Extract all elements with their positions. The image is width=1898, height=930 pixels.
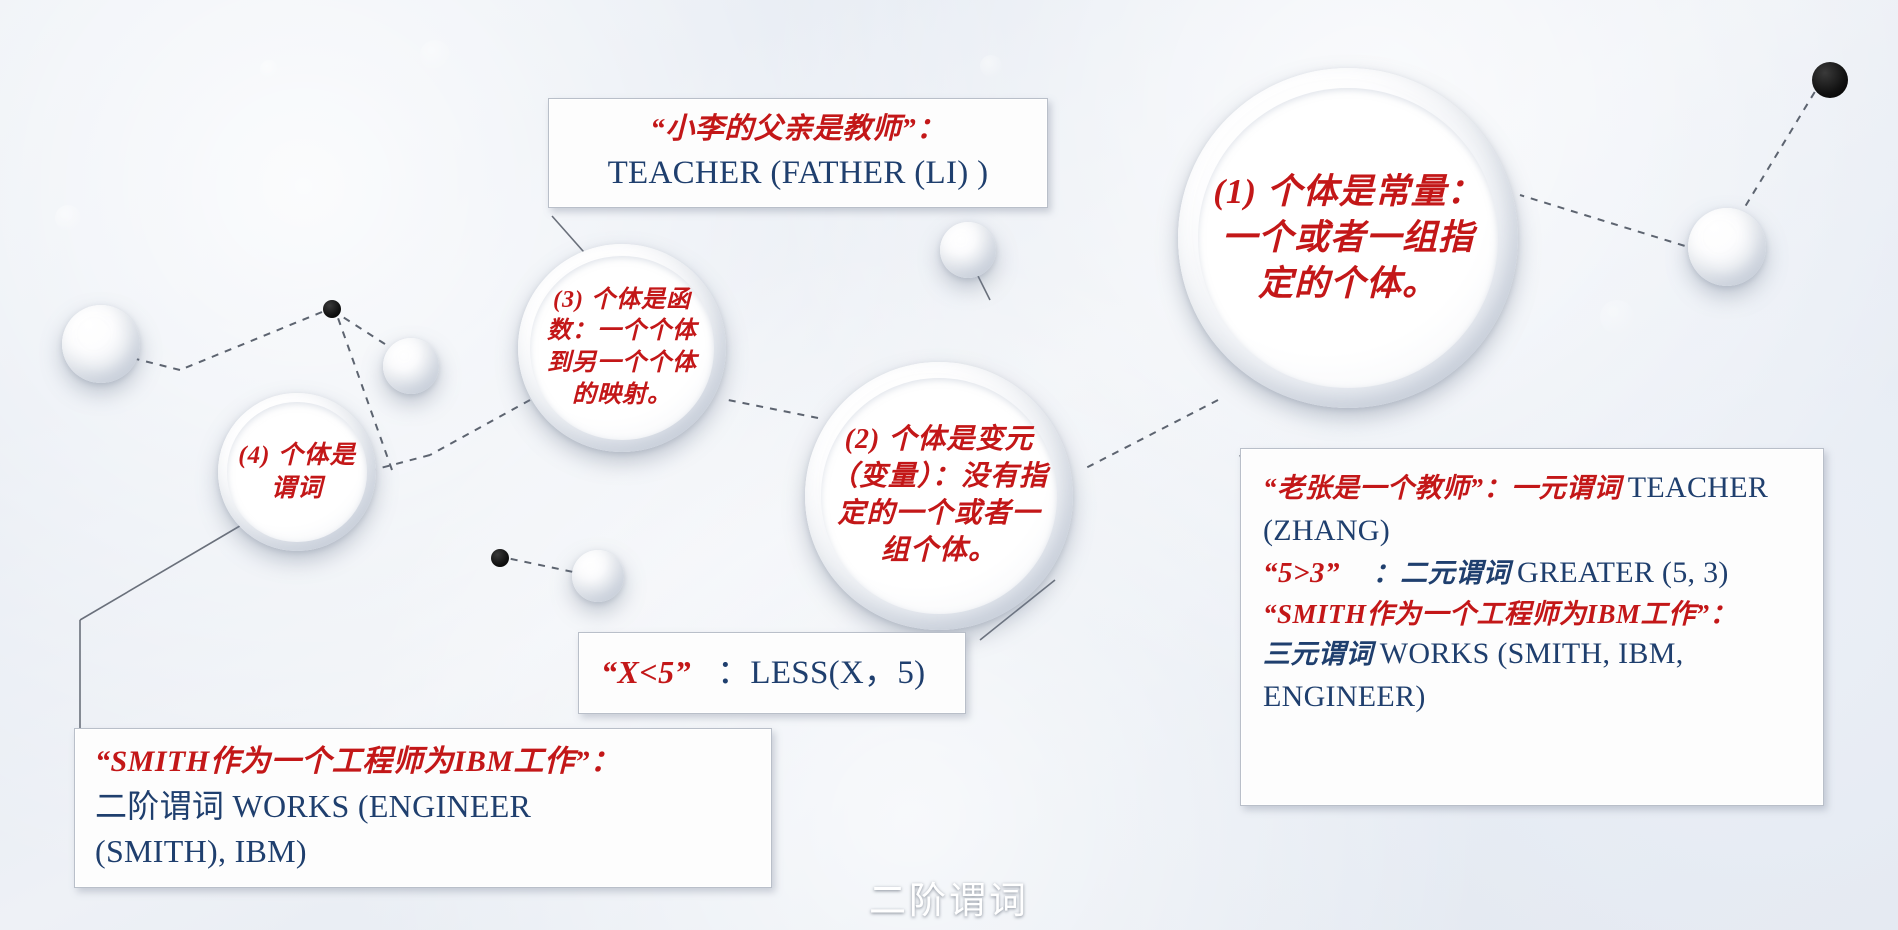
predicate-line-1-zh: “老张是一个教师”：一元谓词 xyxy=(1263,473,1621,503)
callout-less[interactable]: “X<5” ：LESS(X，5) xyxy=(578,632,966,714)
predicate-line-2: (ZHANG) xyxy=(1263,510,1801,553)
slide-caption: 二阶谓词 xyxy=(0,870,1898,924)
predicate-line-6: ENGINEER) xyxy=(1263,676,1801,719)
bokeh-fleck xyxy=(260,60,278,78)
bubble-2[interactable]: (2) 个体是变元（变量）：没有指定的一个或者一组个体。 xyxy=(805,362,1073,630)
bubble-3[interactable]: (3) 个体是函数：一个个体到另一个个体的映射。 xyxy=(518,244,726,452)
callout-works-second-order[interactable]: “SMITH作为一个工程师为IBM工作”： 二阶谓词 WORKS (ENGINE… xyxy=(74,728,772,888)
decor-dot-lower xyxy=(491,549,509,567)
callout-teacher-father-zh: “小李的父亲是教师”： xyxy=(565,109,1031,150)
predicate-line-3: “5>3” ：二元谓词 GREATER (5, 3) xyxy=(1263,552,1801,595)
predicate-line-5: 三元谓词 WORKS (SMITH, IBM, xyxy=(1263,633,1801,676)
callout-less-en: ：LESS(X，5) xyxy=(717,650,925,697)
bubble-2-label: (2) 个体是变元（变量）：没有指定的一个或者一组个体。 xyxy=(829,386,1049,606)
predicate-line-3-zh: “5>3” xyxy=(1263,557,1340,589)
decor-sphere-lower xyxy=(572,550,624,602)
bubble-4-label: (4) 个体是谓词 xyxy=(232,407,362,537)
predicate-line-1: “老张是一个教师”：一元谓词 TEACHER xyxy=(1263,467,1801,510)
callout-teacher-father[interactable]: “小李的父亲是教师”： TEACHER (FATHER (LI) ) xyxy=(548,98,1048,208)
callout-less-zh: “X<5” xyxy=(601,650,691,695)
callout-works-en1: 二阶谓词 WORKS (ENGINEER xyxy=(95,784,751,829)
bokeh-fleck xyxy=(980,55,1002,77)
bubble-3-label: (3) 个体是函数：一个个体到另一个个体的映射。 xyxy=(537,263,708,434)
bubble-4[interactable]: (4) 个体是谓词 xyxy=(218,393,376,551)
callout-works-en2: (SMITH), IBM) xyxy=(95,829,751,874)
decor-sphere-midleft xyxy=(383,338,439,394)
bokeh-fleck xyxy=(55,205,81,231)
predicate-line-5-zh: 三元谓词 xyxy=(1263,639,1373,669)
decor-dot-topright xyxy=(1812,62,1848,98)
decor-dot-left xyxy=(323,300,341,318)
decor-sphere-upper-mid xyxy=(940,222,996,278)
bubble-1[interactable]: (1) 个体是常量：一个或者一组指定的个体。 xyxy=(1178,68,1518,408)
callout-predicate-examples[interactable]: “老张是一个教师”：一元谓词 TEACHER (ZHANG) “5>3” ：二元… xyxy=(1240,448,1824,806)
predicate-line-3-mid-zh: ：二元谓词 xyxy=(1373,558,1511,588)
decor-sphere-topright xyxy=(1688,208,1766,286)
predicate-line-1-en: TEACHER xyxy=(1628,471,1768,504)
slide-canvas: (1) 个体是常量：一个或者一组指定的个体。 (2) 个体是变元（变量）：没有指… xyxy=(0,0,1898,930)
predicate-line-5-en: WORKS (SMITH, IBM, xyxy=(1380,637,1684,670)
predicate-line-3-en: GREATER (5, 3) xyxy=(1517,556,1729,589)
bubble-1-label: (1) 个体是常量：一个或者一组指定的个体。 xyxy=(1209,99,1488,378)
callout-works-zh: “SMITH作为一个工程师为IBM工作”： xyxy=(95,741,751,784)
bokeh-fleck xyxy=(420,40,450,70)
callout-teacher-father-en: TEACHER (FATHER (LI) ) xyxy=(565,150,1031,197)
decor-sphere-left xyxy=(62,305,140,383)
predicate-line-4: “SMITH作为一个工程师为IBM工作”： xyxy=(1263,595,1801,633)
bokeh-fleck xyxy=(1600,300,1634,334)
